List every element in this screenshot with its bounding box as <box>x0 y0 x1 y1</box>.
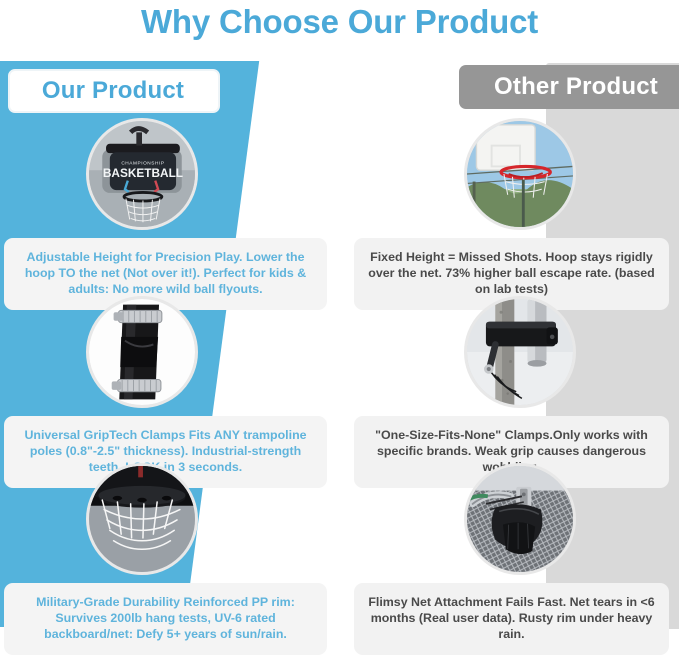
caption-card: Military-Grade Durability Reinforced PP … <box>4 583 327 655</box>
comparison-row: Military-Grade Durability Reinforced PP … <box>0 463 339 635</box>
flimsy-net-photo <box>464 463 576 575</box>
caption-card: Flimsy Net Attachment Fails Fast. Net te… <box>354 583 669 655</box>
svg-text:BASKETBALL: BASKETBALL <box>103 166 183 180</box>
other-product-column: Fixed Height = Missed Shots. Hoop stays … <box>340 118 679 635</box>
caption-text: Military-Grade Durability Reinforced PP … <box>16 594 315 643</box>
generic-clamp-photo <box>464 296 576 408</box>
other-product-header-label: Other Product <box>494 73 658 101</box>
our-product-header-badge: Our Product <box>8 69 220 113</box>
other-product-header-badge: Other Product <box>459 65 679 109</box>
our-product-header-label: Our Product <box>42 77 184 105</box>
comparison-row: Fixed Height = Missed Shots. Hoop stays … <box>340 118 679 296</box>
griptech-clamp-photo <box>86 296 198 408</box>
comparison-row: CHAMPIONSHIP BASKETBALL Adjustable Heigh… <box>0 118 339 296</box>
outdoor-hoop-photo <box>464 118 576 230</box>
basketball-backboard-photo: CHAMPIONSHIP BASKETBALL <box>86 118 198 230</box>
comparison-row: "One-Size-Fits-None" Clamps.Only works w… <box>340 296 679 463</box>
reinforced-rim-net-photo <box>86 463 198 575</box>
caption-text: Fixed Height = Missed Shots. Hoop stays … <box>366 249 657 298</box>
our-product-column: CHAMPIONSHIP BASKETBALL Adjustable Heigh… <box>0 118 339 635</box>
page-title: Why Choose Our Product <box>0 2 679 42</box>
comparison-row: Universal GripTech Clamps Fits ANY tramp… <box>0 296 339 463</box>
comparison-row: Flimsy Net Attachment Fails Fast. Net te… <box>340 463 679 635</box>
caption-text: Flimsy Net Attachment Fails Fast. Net te… <box>366 594 657 643</box>
caption-text: Adjustable Height for Precision Play. Lo… <box>16 249 315 298</box>
